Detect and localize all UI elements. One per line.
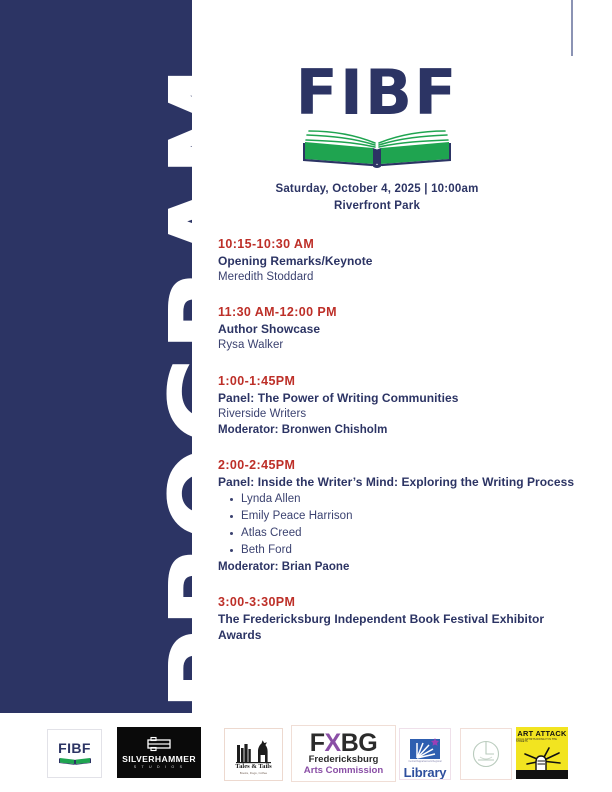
ground-strip	[516, 770, 568, 779]
top-right-rule	[571, 0, 573, 56]
open-book-icon	[293, 126, 461, 170]
slot-moderator: Moderator: Bronwen Chisholm	[218, 422, 578, 438]
list-item: Emily Peace Harrison	[230, 508, 578, 525]
slot-subtitle: Rysa Walker	[218, 338, 578, 354]
open-book-icon	[58, 755, 92, 767]
sponsor-logo-strip: FIBF SILVERHAMMER S T U D I O S	[0, 713, 612, 792]
circle-emblem-icon	[469, 737, 503, 771]
schedule-slot: 1:00-1:45PM Panel: The Power of Writing …	[218, 373, 578, 438]
sponsor-wordmark: FXBG	[310, 731, 377, 756]
schedule-slot: 3:00-3:30PM The Fredericksburg Independe…	[218, 594, 578, 644]
event-details: Saturday, October 4, 2025 | 10:00am Rive…	[212, 181, 542, 214]
event-date: Saturday, October 4, 2025 | 10:00am	[212, 181, 542, 198]
schedule-slot: 11:30 AM-12:00 PM Author Showcase Rysa W…	[218, 304, 578, 353]
sponsor-name: Library	[404, 766, 447, 779]
slot-moderator: Moderator: Brian Paone	[218, 559, 578, 575]
sponsor-logo-circle-emblem[interactable]	[460, 728, 512, 780]
slot-time: 1:00-1:45PM	[218, 373, 578, 390]
schedule-slot: 10:15-10:30 AM Opening Remarks/Keynote M…	[218, 236, 578, 285]
list-item: Beth Ford	[230, 542, 578, 559]
program-word-container: PROGRAM	[0, 0, 200, 713]
poster-header: FIBF Saturday, October 4, 2025 | 10:00am…	[212, 62, 542, 214]
slot-title: The Fredericksburg Independent Book Fest…	[218, 612, 578, 644]
sponsor-logo-tales-and-tails[interactable]: Tales & Tails Books, Dogs, Coffee	[224, 728, 283, 781]
sponsor-tagline: LOCAL ARTISTS DOING IT IN THE STREETS	[516, 739, 568, 744]
sponsor-logo-silverhammer[interactable]: SILVERHAMMER S T U D I O S	[117, 727, 201, 778]
sponsor-line-2: Arts Commission	[304, 766, 383, 777]
books-and-dog-icon	[234, 738, 274, 764]
slot-title: Panel: The Power of Writing Communities	[218, 391, 578, 407]
slot-subtitle: Meredith Stoddard	[218, 270, 578, 286]
slot-time: 2:00-2:45PM	[218, 457, 578, 474]
list-item: Lynda Allen	[230, 491, 578, 508]
sponsor-logo-fxbg-arts-commission[interactable]: FXBG Fredericksburg Arts Commission	[291, 725, 396, 782]
slot-title: Panel: Inside the Writer’s Mind: Explori…	[218, 475, 578, 491]
slot-time: 11:30 AM-12:00 PM	[218, 304, 578, 321]
sponsor-name: FIBF	[58, 741, 91, 755]
slot-title: Author Showcase	[218, 322, 578, 338]
slot-speaker-list: Lynda Allen Emily Peace Harrison Atlas C…	[218, 491, 578, 559]
fibf-wordmark: FIBF	[212, 62, 542, 124]
event-venue: Riverfront Park	[212, 198, 542, 215]
library-burst-icon	[408, 737, 442, 761]
program-vertical-label: PROGRAM	[156, 58, 200, 713]
sponsor-logo-art-attack[interactable]: ART ATTACK LOCAL ARTISTS DOING IT IN THE…	[516, 727, 568, 779]
sponsor-name: SILVERHAMMER	[122, 755, 196, 764]
sponsor-logo-library[interactable]: Central Rappahannock Regional Library	[399, 728, 451, 780]
program-poster: PROGRAM FIBF Saturday, October 4, 2025	[0, 0, 612, 792]
list-item: Atlas Creed	[230, 525, 578, 542]
slot-time: 10:15-10:30 AM	[218, 236, 578, 253]
sponsor-logo-fibf[interactable]: FIBF	[47, 729, 102, 778]
schedule-slot: 2:00-2:45PM Panel: Inside the Writer’s M…	[218, 457, 578, 575]
slot-time: 3:00-3:30PM	[218, 594, 578, 611]
slot-subtitle: Riverside Writers	[218, 407, 578, 423]
sponsor-name: ART ATTACK	[517, 730, 566, 737]
slot-title: Opening Remarks/Keynote	[218, 254, 578, 270]
sponsor-tagline: S T U D I O S	[134, 766, 184, 770]
hammer-icon	[146, 736, 172, 752]
sponsor-name: Tales & Tails	[235, 764, 271, 771]
sponsor-tagline: Books, Dogs, Coffee	[240, 772, 267, 776]
sponsor-tagline: Central Rappahannock Regional	[408, 761, 441, 764]
schedule-list: 10:15-10:30 AM Opening Remarks/Keynote M…	[218, 236, 578, 644]
